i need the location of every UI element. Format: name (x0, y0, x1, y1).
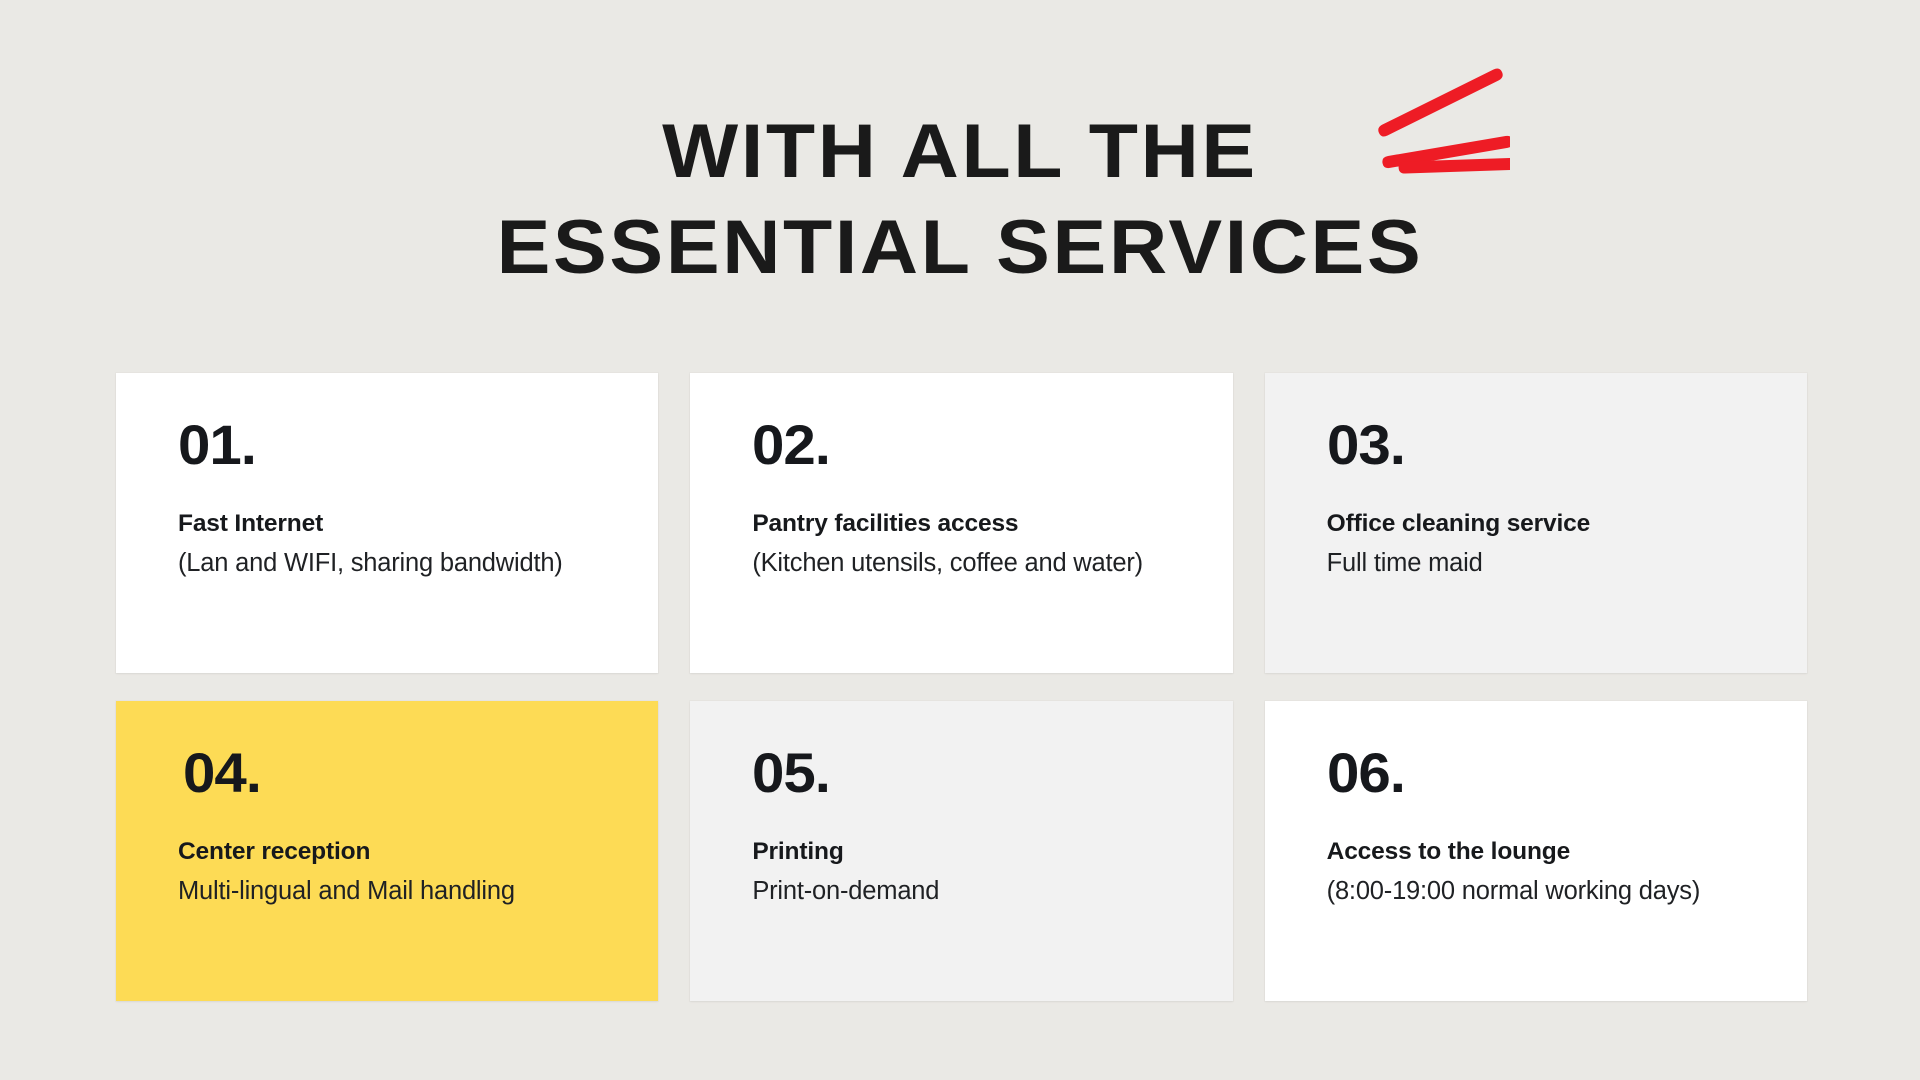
service-card-subtitle: (Kitchen utensils, coffee and water) (752, 545, 1232, 581)
service-card-title: Fast Internet (178, 507, 658, 541)
services-grid: 01. Fast Internet (Lan and WIFI, sharing… (116, 373, 1807, 1001)
slide-canvas: WITH ALL THE ESSENTIAL SERVICES 01. Fast… (0, 0, 1920, 1080)
service-card-number: 03. (1327, 417, 1827, 473)
service-card-01[interactable]: 01. Fast Internet (Lan and WIFI, sharing… (116, 373, 658, 673)
page-title-line-1: WITH ALL THE (0, 104, 1920, 200)
service-card-subtitle: Multi-lingual and Mail handling (178, 873, 658, 909)
service-card-number: 04. (183, 745, 677, 801)
service-card-06[interactable]: 06. Access to the lounge (8:00-19:00 nor… (1265, 701, 1807, 1001)
service-card-title: Pantry facilities access (752, 507, 1232, 541)
red-speed-strokes-icon (1370, 48, 1510, 178)
service-card-number: 02. (752, 417, 1252, 473)
service-card-number: 05. (752, 745, 1252, 801)
service-card-number: 01. (178, 417, 678, 473)
service-card-title: Office cleaning service (1327, 507, 1807, 541)
page-title-line-2: ESSENTIAL SERVICES (0, 200, 1920, 296)
service-card-title: Access to the lounge (1327, 835, 1807, 869)
page-title: WITH ALL THE ESSENTIAL SERVICES (0, 104, 1920, 296)
service-card-title: Center reception (178, 835, 658, 869)
service-card-02[interactable]: 02. Pantry facilities access (Kitchen ut… (690, 373, 1232, 673)
service-card-04[interactable]: 04. Center reception Multi-lingual and M… (116, 701, 658, 1001)
service-card-subtitle: Print-on-demand (752, 873, 1232, 909)
service-card-title: Printing (752, 835, 1232, 869)
service-card-subtitle: Full time maid (1327, 545, 1807, 581)
service-card-subtitle: (Lan and WIFI, sharing bandwidth) (178, 545, 658, 581)
header: WITH ALL THE ESSENTIAL SERVICES (0, 0, 1920, 320)
service-card-subtitle: (8:00-19:00 normal working days) (1327, 873, 1807, 909)
service-card-03[interactable]: 03. Office cleaning service Full time ma… (1265, 373, 1807, 673)
service-card-number: 06. (1327, 745, 1827, 801)
service-card-05[interactable]: 05. Printing Print-on-demand (690, 701, 1232, 1001)
